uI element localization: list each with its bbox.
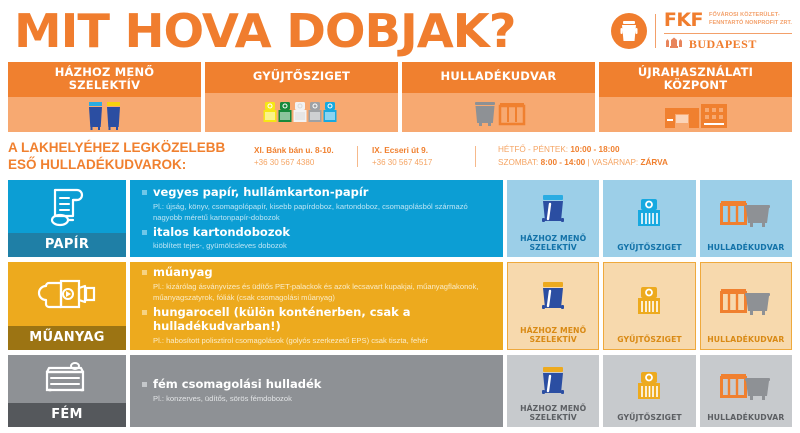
item-subtext: Pl.: kizárólag ásványvizes és üdítős PET…	[153, 281, 493, 303]
item-heading: fém csomagolási hulladék	[153, 377, 493, 391]
fkf-logo[interactable]: FKF FŐVÁROSI KÖZTERÜLET- FENNTARTÓ NONPR…	[611, 9, 792, 54]
header-category-hulladekudvar[interactable]: HULLADÉKUDVAR	[402, 62, 595, 132]
list-item: fém csomagolási hulladék Pl.: konzerves,…	[142, 377, 493, 403]
sunday-value: ZÁRVA	[640, 158, 667, 167]
item-subtext: Pl.: konzerves, üdítős, sörös fémdobozok	[153, 393, 493, 404]
bullet-icon	[142, 230, 147, 235]
info-lead-line1: A LAKHELYÉHEZ LEGKÖZELEBB	[8, 140, 240, 156]
budapest-crest-icon	[664, 36, 684, 54]
info-bar: A LAKHELYÉHEZ LEGKÖZELEBB ESŐ HULLADÉKUD…	[0, 132, 800, 180]
brand-subtitle-line1: FŐVÁROSI KÖZTERÜLET-	[709, 12, 792, 19]
location-name: IX. Ecseri út 9.	[372, 146, 461, 155]
waste-row-paper: PAPÍR vegyes papír, hullámkarton-papír P…	[8, 180, 792, 257]
description-block-metal: fém csomagolási hulladék Pl.: konzerves,…	[130, 355, 503, 427]
waste-yard-icon	[702, 184, 790, 243]
panel-label: HULLADÉKUDVAR	[707, 243, 784, 252]
metal-can-icon	[8, 355, 126, 403]
sunday-label: VASÁRNAP:	[592, 158, 638, 167]
disposal-panels-plastic: HÁZHOZ MENŐ SZELEKTÍV GYŰJTŐSZIGET	[507, 262, 792, 350]
brand-subtitle-line2: FENNTARTÓ NONPROFIT ZRT.	[709, 20, 792, 27]
waste-type-rows: PAPÍR vegyes papír, hullámkarton-papír P…	[0, 180, 800, 433]
header-category-title: GYŰJTŐSZIGET	[205, 62, 398, 93]
blue-wheelie-bin-icon	[510, 267, 596, 326]
disposal-panel-gyujtosziget[interactable]: GYŰJTŐSZIGET	[603, 355, 695, 427]
waste-yard-container-icon	[402, 93, 595, 132]
category-header-bar: HÁZHOZ MENŐ SZELEKTÍV GYŰJTŐSZIGET	[0, 62, 800, 132]
disposal-panel-gyujtosziget[interactable]: GYŰJTŐSZIGET	[603, 180, 695, 257]
header-category-title: HULLADÉKUDVAR	[402, 62, 595, 93]
panel-label: HÁZHOZ MENŐ SZELEKTÍV	[520, 404, 586, 422]
info-lead-line2: ESŐ HULLADÉKUDVAROK:	[8, 157, 240, 173]
item-heading: italos kartondobozok	[153, 225, 493, 239]
bullet-icon	[142, 382, 147, 387]
trash-bin-icon	[611, 13, 647, 49]
list-item: vegyes papír, hullámkarton-papír Pl.: új…	[142, 185, 493, 222]
list-item: műanyag Pl.: kizárólag ásványvizes és üd…	[142, 265, 493, 302]
category-label: MŰANYAG	[8, 326, 126, 350]
brand-name: FKF	[664, 9, 703, 31]
hours-separator: |	[588, 158, 590, 167]
city-name: BUDAPEST	[689, 37, 757, 52]
opening-hours: HÉTFŐ - PÉNTEK: 10:00 - 18:00 SZOMBAT: 8…	[476, 144, 668, 169]
location-item[interactable]: IX. Ecseri út 9. +36 30 567 4517	[358, 146, 476, 167]
five-collection-containers-icon	[205, 93, 398, 132]
bullet-icon	[142, 310, 147, 315]
logo-separator	[664, 33, 792, 34]
collection-container-icon	[605, 359, 693, 413]
weekday-value: 10:00 - 18:00	[570, 145, 619, 154]
waste-yard-icon	[703, 267, 789, 335]
two-wheelie-bins-icon	[8, 97, 201, 132]
item-subtext: Pl.: habosított polisztirol csomagolások…	[153, 335, 493, 346]
panel-label: HÁZHOZ MENŐ SZELEKTÍV	[520, 326, 586, 344]
item-subtext: kiöblített tejes-, gyümölcsleves dobozok	[153, 240, 493, 251]
header-category-gyujtosziget[interactable]: GYŰJTŐSZIGET	[205, 62, 398, 132]
header-category-title: ÚJRAHASZNÁLATI KÖZPONT	[599, 62, 792, 97]
item-subtext: Pl.: újság, könyv, csomagolópapír, kiseb…	[153, 201, 493, 223]
disposal-panel-hazhoz-meno-szelektiv[interactable]: HÁZHOZ MENŐ SZELEKTÍV	[507, 262, 599, 350]
saturday-label: SZOMBAT:	[498, 158, 538, 167]
location-phone[interactable]: +36 30 567 4517	[372, 158, 461, 167]
reuse-center-building-icon	[599, 97, 792, 132]
disposal-panel-hulladekudvar[interactable]: HULLADÉKUDVAR	[700, 180, 792, 257]
weekday-label: HÉTFŐ - PÉNTEK:	[498, 145, 568, 154]
plastic-bottle-icon	[8, 262, 126, 326]
panel-label: GYŰJTŐSZIGET	[617, 413, 682, 422]
category-label: PAPÍR	[8, 233, 126, 257]
item-heading: hungarocell (külön konténerben, csak a h…	[153, 305, 493, 334]
blue-wheelie-bin-icon	[509, 184, 597, 234]
panel-label: HULLADÉKUDVAR	[707, 335, 784, 344]
info-lead-text: A LAKHELYÉHEZ LEGKÖZELEBB ESŐ HULLADÉKUD…	[8, 140, 240, 173]
panel-label: HÁZHOZ MENŐ SZELEKTÍV	[520, 234, 586, 252]
collection-container-icon	[606, 267, 692, 335]
bullet-icon	[142, 190, 147, 195]
title-bar: MIT HOVA DOBJAK? FKF FŐVÁROSI KÖZTERÜLET…	[0, 0, 800, 62]
header-category-ujrahasznalati-kozpont[interactable]: ÚJRAHASZNÁLATI KÖZPONT	[599, 62, 792, 132]
disposal-panel-hulladekudvar[interactable]: HULLADÉKUDVAR	[700, 262, 792, 350]
collection-container-icon	[605, 184, 693, 243]
disposal-panels-metal: HÁZHOZ MENŐ SZELEKTÍV GYŰJTŐSZIGET	[507, 355, 792, 427]
header-category-hazhoz-meno-szelektiv[interactable]: HÁZHOZ MENŐ SZELEKTÍV	[8, 62, 201, 132]
waste-row-plastic: MŰANYAG műanyag Pl.: kizárólag ásványviz…	[8, 262, 792, 350]
item-heading: vegyes papír, hullámkarton-papír	[153, 185, 493, 199]
page-title: MIT HOVA DOBJAK?	[14, 8, 515, 54]
location-item[interactable]: XI. Bánk bán u. 8-10. +36 30 567 4380	[240, 146, 358, 167]
disposal-panel-hazhoz-meno-szelektiv[interactable]: HÁZHOZ MENŐ SZELEKTÍV	[507, 355, 599, 427]
paper-scroll-icon	[8, 180, 126, 233]
panel-label: GYŰJTŐSZIGET	[617, 335, 682, 344]
list-item: hungarocell (külön konténerben, csak a h…	[142, 305, 493, 346]
description-block-plastic: műanyag Pl.: kizárólag ásványvizes és üd…	[130, 262, 503, 350]
header-category-title: HÁZHOZ MENŐ SZELEKTÍV	[8, 62, 201, 97]
bullet-icon	[142, 270, 147, 275]
item-heading: műanyag	[153, 265, 493, 279]
blue-wheelie-bin-icon	[509, 359, 597, 404]
disposal-panel-hazhoz-meno-szelektiv[interactable]: HÁZHOZ MENŐ SZELEKTÍV	[507, 180, 599, 257]
location-phone[interactable]: +36 30 567 4380	[254, 158, 343, 167]
category-block-metal: FÉM	[8, 355, 126, 427]
disposal-panel-hulladekudvar[interactable]: HULLADÉKUDVAR	[700, 355, 792, 427]
panel-label: GYŰJTŐSZIGET	[617, 243, 682, 252]
panel-label: HULLADÉKUDVAR	[707, 413, 784, 422]
disposal-panel-gyujtosziget[interactable]: GYŰJTŐSZIGET	[603, 262, 695, 350]
logo-divider	[655, 14, 656, 48]
waste-row-metal: FÉM fém csomagolási hulladék Pl.: konzer…	[8, 355, 792, 427]
description-block-paper: vegyes papír, hullámkarton-papír Pl.: új…	[130, 180, 503, 257]
category-block-plastic: MŰANYAG	[8, 262, 126, 350]
saturday-value: 8:00 - 14:00	[541, 158, 586, 167]
category-label: FÉM	[8, 403, 126, 427]
disposal-panels-paper: HÁZHOZ MENŐ SZELEKTÍV GYŰJTŐSZIGET	[507, 180, 792, 257]
waste-yard-icon	[702, 359, 790, 413]
category-block-paper: PAPÍR	[8, 180, 126, 257]
location-name: XI. Bánk bán u. 8-10.	[254, 146, 343, 155]
list-item: italos kartondobozok kiöblített tejes-, …	[142, 225, 493, 251]
